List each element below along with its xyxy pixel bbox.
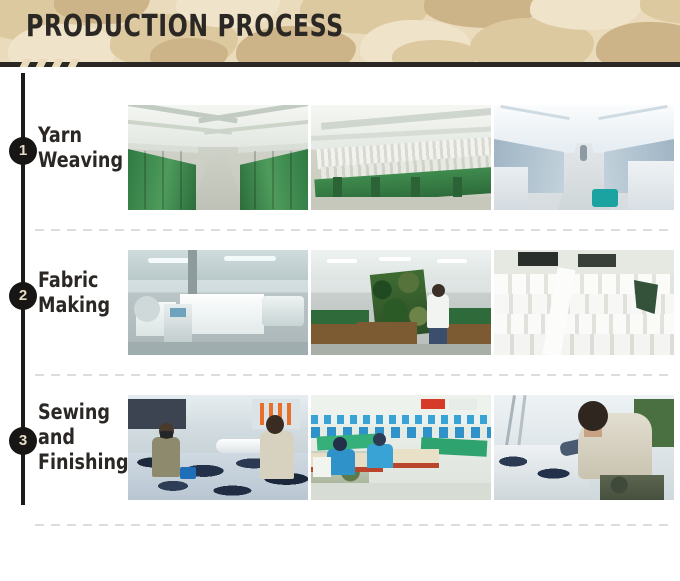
photo-finishing-station[interactable] <box>494 395 674 500</box>
step-label-line: Fabric <box>38 268 120 293</box>
header-accent-bar <box>0 62 680 67</box>
photo-sewing-production-line[interactable] <box>311 395 491 500</box>
page-title: PRODUCTION PROCESS <box>26 9 344 44</box>
step-label-line: Making <box>38 293 120 318</box>
step-label-line: Weaving <box>38 148 120 173</box>
step-number-badge-2: 2 <box>9 282 37 310</box>
step-number-badge-1: 1 <box>9 137 37 165</box>
step-number-badge-3: 3 <box>9 427 37 455</box>
photo-bright-spinning-aisle[interactable] <box>494 105 674 210</box>
step-label-line: Finishing <box>38 450 120 475</box>
step-label-1: Yarn Weaving <box>38 123 120 173</box>
photo-fabric-cutting-table[interactable] <box>128 395 308 500</box>
step-label-3: Sewing and Finishing <box>38 400 120 475</box>
step-divider-2 <box>35 374 671 376</box>
photo-camo-fabric-inspection[interactable] <box>311 250 491 355</box>
photo-fabric-bale-storage[interactable] <box>494 250 674 355</box>
photo-weaving-looms[interactable] <box>128 250 308 355</box>
step-label-line: Sewing <box>38 400 120 425</box>
step-label-line: Yarn <box>38 123 120 148</box>
photo-green-machine-hall[interactable] <box>128 105 308 210</box>
photo-spinning-frames[interactable] <box>311 105 491 210</box>
page-header: PRODUCTION PROCESS <box>0 0 680 67</box>
step-divider-1 <box>35 229 671 231</box>
process-step-3: 3 Sewing and Finishing <box>0 395 680 540</box>
process-timeline: 1 Yarn Weaving <box>0 67 680 570</box>
process-step-1: 1 Yarn Weaving <box>0 105 680 250</box>
production-process-page: PRODUCTION PROCESS 1 Yarn Weaving <box>0 0 680 581</box>
step-label-2: Fabric Making <box>38 268 120 318</box>
step-label-line: and <box>38 425 120 450</box>
step-divider-3 <box>35 524 671 526</box>
process-step-2: 2 Fabric Making <box>0 250 680 395</box>
